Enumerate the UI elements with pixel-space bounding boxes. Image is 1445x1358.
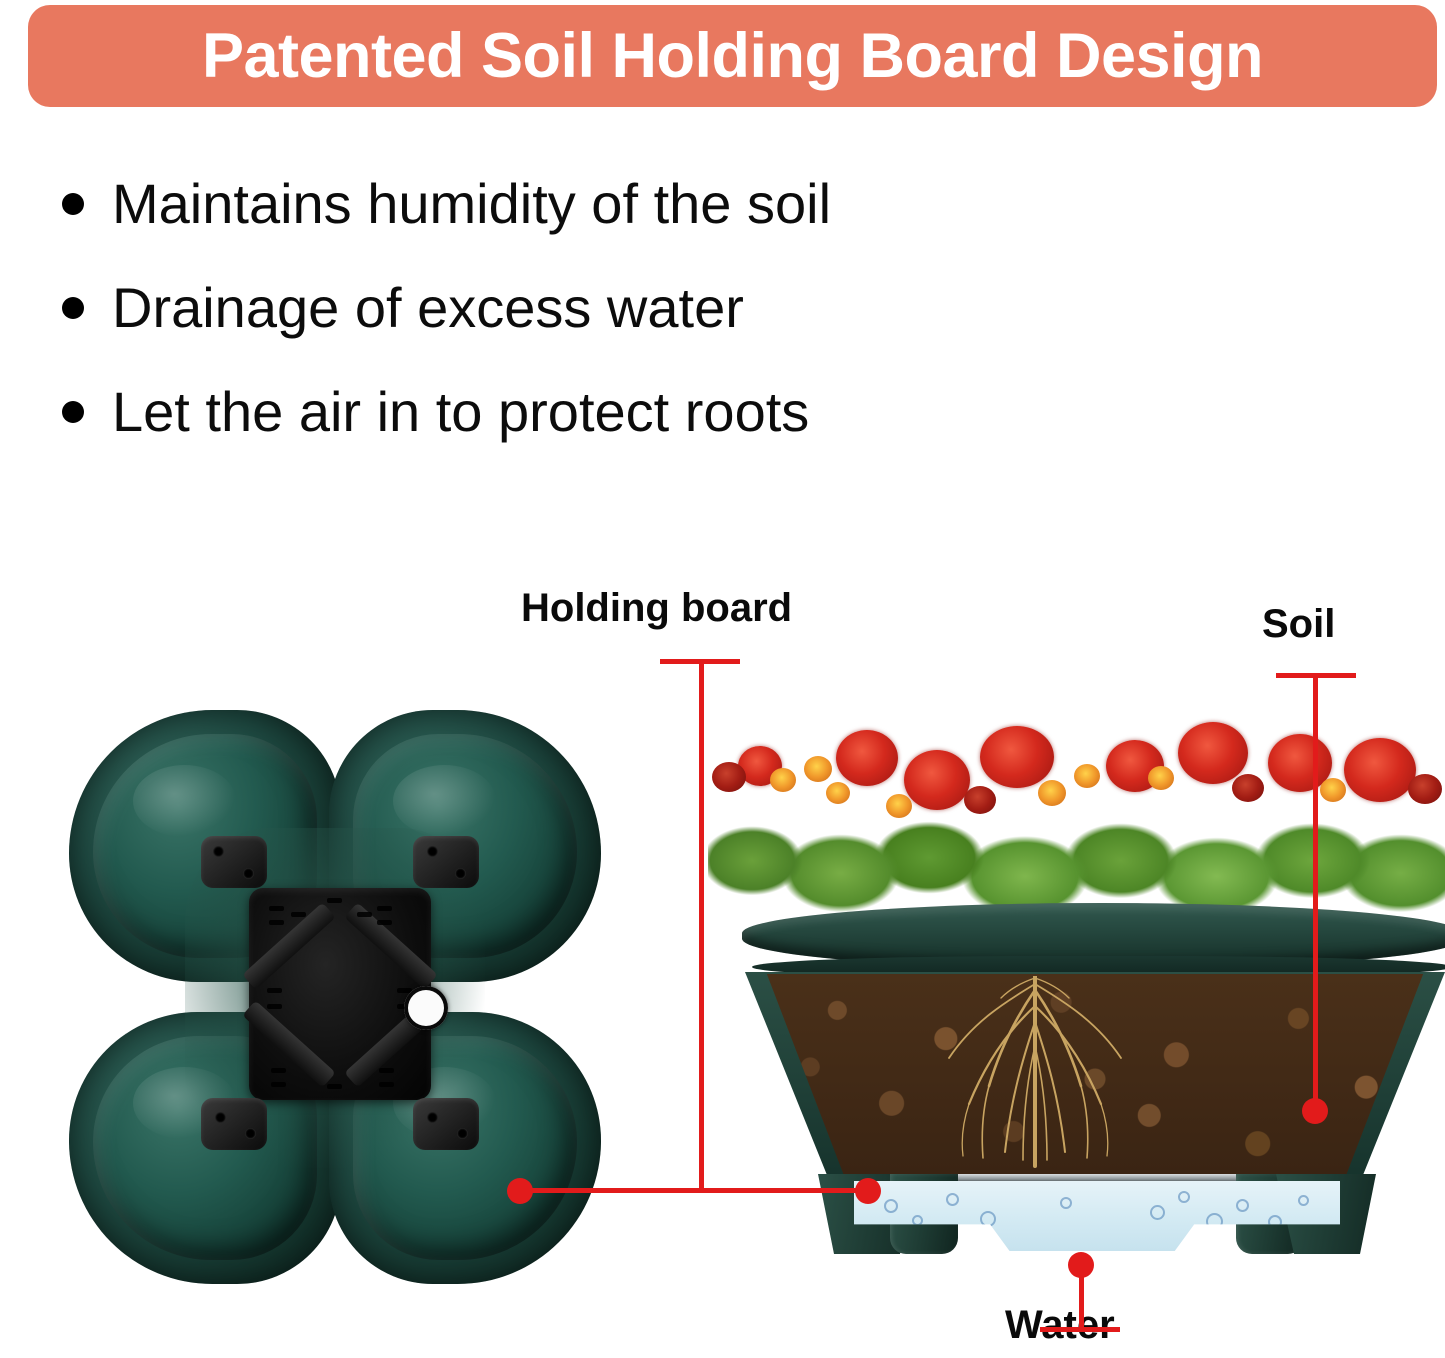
bullet-icon — [62, 193, 84, 215]
board-peg — [213, 846, 224, 857]
flower-bloom — [1320, 778, 1346, 802]
board-mount-tab — [413, 836, 479, 888]
water-bubble — [1236, 1199, 1249, 1212]
board-vent — [377, 906, 392, 911]
board-vent — [327, 898, 342, 903]
board-mount-tab — [201, 836, 267, 888]
board-vent — [267, 988, 282, 993]
flower-bloom — [1232, 774, 1264, 802]
board-vent — [379, 1082, 394, 1087]
board-vent — [379, 1068, 394, 1073]
flower-bloom — [826, 782, 850, 804]
board-peg — [455, 868, 466, 879]
callout-label-soil: Soil — [1262, 604, 1335, 644]
flower-bloom — [904, 750, 970, 810]
board-vent — [269, 920, 284, 925]
leader-vertical-holding-board — [699, 659, 704, 1190]
board-vent — [267, 1004, 282, 1009]
board-peg — [243, 868, 254, 879]
callout-label-water: Water — [1005, 1305, 1115, 1345]
board-rib — [242, 1000, 336, 1087]
flower-bloom — [1178, 722, 1248, 784]
pot-cross-section-image — [700, 690, 1445, 1270]
flower-bloom — [804, 756, 832, 782]
page-title: Patented Soil Holding Board Design — [202, 25, 1263, 88]
flower-bloom — [980, 726, 1054, 788]
board-peg — [427, 846, 438, 857]
water-bubble — [1150, 1205, 1165, 1220]
flower-bloom — [964, 786, 996, 814]
water-bubble — [884, 1199, 898, 1213]
board-peg — [215, 1112, 226, 1123]
feature-list: Maintains humidity of the soil Drainage … — [62, 152, 1162, 464]
bullet-icon — [62, 297, 84, 319]
board-peg — [427, 1112, 438, 1123]
flower-bloom — [1038, 780, 1066, 806]
list-item: Drainage of excess water — [62, 256, 1162, 360]
leader-dot-water — [1068, 1252, 1094, 1278]
board-mount-tab — [201, 1098, 267, 1150]
flower-bloom — [1148, 766, 1174, 790]
flower-bloom — [886, 794, 912, 818]
drainage-hole — [404, 986, 448, 1030]
leader-vertical-soil — [1313, 673, 1318, 1113]
infographic-page: Patented Soil Holding Board Design Maint… — [0, 0, 1445, 1358]
board-vent — [327, 1084, 342, 1089]
board-vent — [269, 906, 284, 911]
flower-bed — [708, 690, 1445, 918]
leader-dot-soil — [1302, 1098, 1328, 1124]
feature-text: Let the air in to protect roots — [112, 384, 809, 440]
board-vent — [271, 1068, 286, 1073]
list-item: Maintains humidity of the soil — [62, 152, 1162, 256]
bullet-icon — [62, 401, 84, 423]
holding-board-core — [249, 888, 431, 1100]
leader-dot-holding-board-right — [855, 1178, 881, 1204]
leader-tbar-water — [1040, 1327, 1120, 1332]
leader-horizontal-holding-board — [520, 1188, 870, 1193]
feature-text: Drainage of excess water — [112, 280, 744, 336]
board-mount-tab — [413, 1098, 479, 1150]
board-vent — [271, 1082, 286, 1087]
leader-dot-holding-board-left — [507, 1178, 533, 1204]
flower-bloom — [1074, 764, 1100, 788]
flower-bloom — [1408, 774, 1442, 804]
board-peg — [245, 1128, 256, 1139]
water-bubble — [912, 1215, 923, 1226]
water-bubble — [1298, 1195, 1309, 1206]
callout-label-holding-board: Holding board — [521, 588, 792, 628]
flower-bloom — [770, 768, 796, 792]
flower-bloom — [836, 730, 898, 786]
feature-text: Maintains humidity of the soil — [112, 176, 831, 232]
water-bubble — [1178, 1191, 1190, 1203]
holding-board-插 — [197, 818, 483, 1168]
header-banner: Patented Soil Holding Board Design — [28, 5, 1437, 107]
board-peg — [457, 1128, 468, 1139]
planter-topview-image — [55, 700, 615, 1300]
board-vent — [291, 912, 306, 917]
flower-bloom — [1344, 738, 1416, 802]
list-item: Let the air in to protect roots — [62, 360, 1162, 464]
board-vent — [377, 920, 392, 925]
board-vent — [357, 912, 372, 917]
water-bubble — [946, 1193, 959, 1206]
flower-bloom — [712, 762, 746, 792]
soil-layer — [756, 974, 1434, 1176]
water-bubble — [1060, 1197, 1072, 1209]
board-rib — [242, 902, 336, 989]
